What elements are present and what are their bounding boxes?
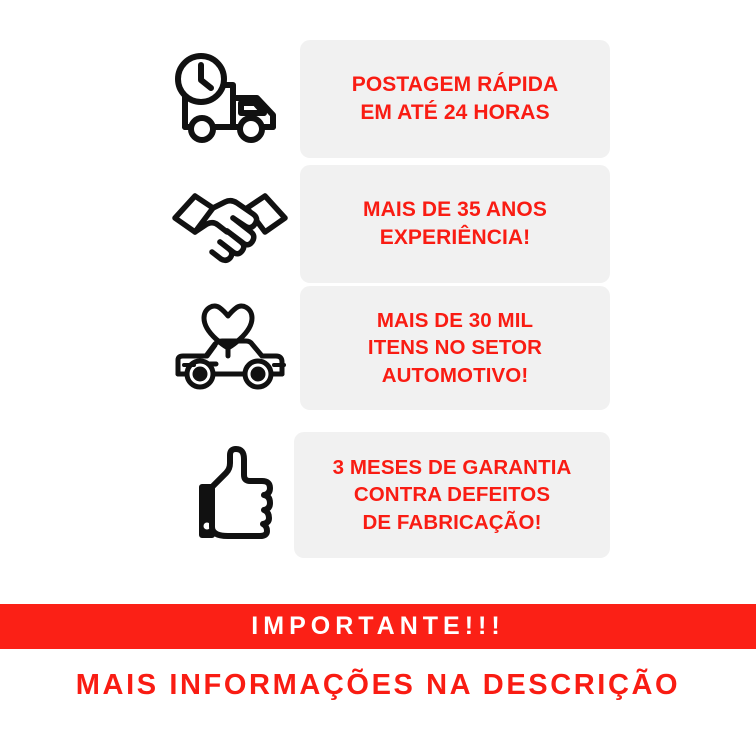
benefit-line: EM ATÉ 24 HORAS [360, 99, 549, 127]
benefit-pill: 3 MESES DE GARANTIA CONTRA DEFEITOS DE F… [294, 432, 610, 558]
benefit-row: POSTAGEM RÁPIDA EM ATÉ 24 HORAS [160, 40, 610, 158]
benefit-pill: MAIS DE 30 MIL ITENS NO SETOR AUTOMOTIVO… [300, 286, 610, 410]
benefit-row: MAIS DE 35 ANOS EXPERIÊNCIA! [160, 165, 610, 283]
benefit-line: MAIS DE 30 MIL [377, 307, 533, 334]
footer-banner: IMPORTANTE!!! MAIS INFORMAÇÕES NA DESCRI… [0, 604, 756, 756]
benefit-pill: MAIS DE 35 ANOS EXPERIÊNCIA! [300, 165, 610, 283]
important-band: IMPORTANTE!!! [0, 604, 756, 649]
description-wrap: MAIS INFORMAÇÕES NA DESCRIÇÃO [0, 649, 756, 756]
delivery-truck-clock-icon [160, 40, 300, 158]
promo-banner: POSTAGEM RÁPIDA EM ATÉ 24 HORAS [0, 0, 756, 756]
car-heart-icon [160, 286, 300, 410]
benefit-row: 3 MESES DE GARANTIA CONTRA DEFEITOS DE F… [160, 432, 610, 558]
benefits-list: POSTAGEM RÁPIDA EM ATÉ 24 HORAS [0, 0, 756, 600]
benefit-pill: POSTAGEM RÁPIDA EM ATÉ 24 HORAS [300, 40, 610, 158]
benefit-line: DE FABRICAÇÃO! [362, 509, 541, 536]
benefit-line: 3 MESES DE GARANTIA [333, 454, 572, 481]
benefit-line: CONTRA DEFEITOS [354, 481, 550, 508]
benefit-line: POSTAGEM RÁPIDA [352, 71, 558, 99]
benefit-line: EXPERIÊNCIA! [380, 224, 531, 252]
thumbs-up-icon [160, 432, 300, 558]
benefit-line: AUTOMOTIVO! [382, 362, 529, 389]
benefit-line: ITENS NO SETOR [368, 334, 542, 361]
important-label: IMPORTANTE!!! [251, 614, 504, 639]
benefit-line: MAIS DE 35 ANOS [363, 196, 547, 224]
handshake-icon [160, 165, 300, 283]
benefit-row: MAIS DE 30 MIL ITENS NO SETOR AUTOMOTIVO… [160, 286, 610, 410]
description-label: MAIS INFORMAÇÕES NA DESCRIÇÃO [76, 671, 680, 700]
